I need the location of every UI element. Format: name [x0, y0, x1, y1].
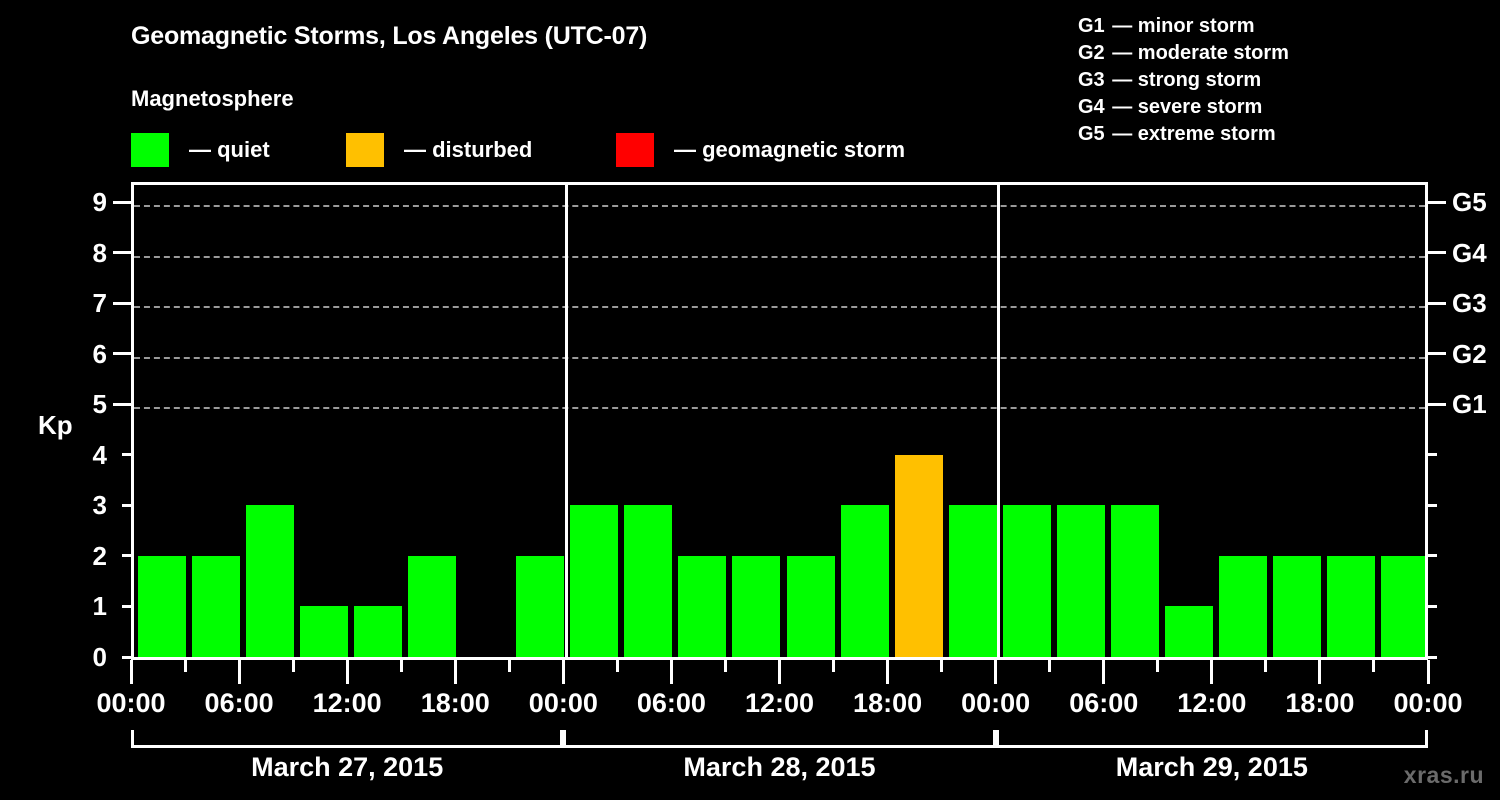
kp-bar — [1327, 556, 1375, 657]
y-tick-label-5: 5 — [67, 391, 107, 417]
x-tick-12 — [778, 660, 781, 684]
x-tick-9 — [616, 660, 619, 672]
day-label-1: March 27, 2015 — [131, 752, 563, 783]
g-legend-row-g1: G1 — minor storm — [1078, 13, 1289, 40]
y-tick-right-2 — [1428, 554, 1437, 557]
kp-bar — [246, 505, 294, 657]
g-legend-text-g3: — strong storm — [1107, 69, 1261, 91]
x-tick-19 — [1156, 660, 1159, 672]
x-tick-14 — [886, 660, 889, 684]
legend-entry-quiet: — quiet — [131, 132, 270, 168]
kp-bar — [300, 606, 348, 657]
y-tick-3 — [122, 504, 131, 507]
g-legend-text-g5: — extreme storm — [1107, 123, 1276, 145]
y-tick-6 — [113, 352, 131, 355]
y-tick-9 — [113, 201, 131, 204]
y-tick-label-4: 4 — [67, 442, 107, 468]
g-axis-label-g3: G3 — [1452, 290, 1487, 316]
g-legend-row-g5: G5 — extreme storm — [1078, 121, 1289, 148]
kp-bar — [1003, 505, 1051, 657]
kp-bar — [1219, 556, 1267, 657]
x-tick-21 — [1264, 660, 1267, 672]
kp-bar — [1057, 505, 1105, 657]
x-tick-2 — [238, 660, 241, 684]
kp-bar — [354, 606, 402, 657]
kp-bar — [1165, 606, 1213, 657]
day-label-3: March 29, 2015 — [996, 752, 1428, 783]
x-tick-20 — [1210, 660, 1213, 684]
gridline-kp-8 — [134, 256, 1425, 258]
y-tick-right-3 — [1428, 504, 1437, 507]
day-bracket-3 — [996, 730, 1428, 748]
y-tick-right-7 — [1428, 302, 1446, 305]
g-legend-code-g5: G5 — [1078, 123, 1105, 145]
x-tick-13 — [832, 660, 835, 672]
kp-bar — [732, 556, 780, 657]
gridline-kp-5 — [134, 407, 1425, 409]
y-tick-right-4 — [1428, 453, 1437, 456]
y-tick-right-0 — [1428, 656, 1437, 659]
x-tick-17 — [1048, 660, 1051, 672]
x-tick-18 — [1102, 660, 1105, 684]
y-tick-right-5 — [1428, 403, 1446, 406]
magnetosphere-section-label: Magnetosphere — [131, 86, 294, 112]
y-tick-right-9 — [1428, 201, 1446, 204]
g-legend-text-g1: — minor storm — [1107, 15, 1255, 37]
kp-bar — [624, 505, 672, 657]
x-tick-8 — [562, 660, 565, 684]
x-tick-6 — [454, 660, 457, 684]
kp-bar — [841, 505, 889, 657]
x-tick-22 — [1318, 660, 1321, 684]
y-tick-1 — [122, 605, 131, 608]
y-tick-label-9: 9 — [67, 189, 107, 215]
y-tick-5 — [113, 403, 131, 406]
kp-bar — [1111, 505, 1159, 657]
y-tick-right-1 — [1428, 605, 1437, 608]
day-separator-2 — [997, 185, 1000, 660]
plot-inner — [134, 185, 1425, 660]
g-legend-code-g2: G2 — [1078, 42, 1105, 64]
g-legend-code-g4: G4 — [1078, 96, 1105, 118]
x-tick-11 — [724, 660, 727, 672]
kp-bar — [678, 556, 726, 657]
gridline-kp-7 — [134, 306, 1425, 308]
kp-bar — [1273, 556, 1321, 657]
x-tick-5 — [400, 660, 403, 672]
y-tick-label-0: 0 — [67, 644, 107, 670]
y-tick-label-7: 7 — [67, 290, 107, 316]
x-tick-1 — [184, 660, 187, 672]
gridline-kp-6 — [134, 357, 1425, 359]
x-tick-23 — [1372, 660, 1375, 672]
gridline-kp-9 — [134, 205, 1425, 207]
x-tick-24 — [1427, 660, 1430, 684]
y-tick-right-8 — [1428, 251, 1446, 254]
kp-bar — [570, 505, 618, 657]
legend-entry-geomagnetic-storm: — geomagnetic storm — [616, 132, 905, 168]
g-legend-code-g3: G3 — [1078, 69, 1105, 91]
day-label-2: March 28, 2015 — [563, 752, 995, 783]
kp-bar — [787, 556, 835, 657]
g-scale-legend: G1 — minor stormG2 — moderate stormG3 — … — [1078, 13, 1289, 148]
kp-bar — [192, 556, 240, 657]
y-tick-label-3: 3 — [67, 492, 107, 518]
kp-bar — [408, 556, 456, 657]
kp-bar — [138, 556, 186, 657]
x-tick-4 — [346, 660, 349, 684]
kp-bar — [1381, 556, 1425, 657]
legend-label-disturbed: — disturbed — [404, 139, 532, 161]
g-legend-text-g2: — moderate storm — [1107, 42, 1289, 64]
y-tick-right-6 — [1428, 352, 1446, 355]
g-legend-code-g1: G1 — [1078, 15, 1105, 37]
legend-label-quiet: — quiet — [189, 139, 270, 161]
x-tick-16 — [994, 660, 997, 684]
watermark: xras.ru — [1404, 762, 1484, 789]
kp-bar — [949, 505, 997, 657]
g-axis-label-g2: G2 — [1452, 341, 1487, 367]
y-tick-label-1: 1 — [67, 593, 107, 619]
legend-swatch-disturbed — [346, 133, 384, 167]
x-tick-3 — [292, 660, 295, 672]
kp-bar — [516, 556, 564, 657]
y-tick-7 — [113, 302, 131, 305]
x-tick-15 — [940, 660, 943, 672]
g-legend-row-g3: G3 — strong storm — [1078, 67, 1289, 94]
y-tick-label-8: 8 — [67, 240, 107, 266]
y-tick-2 — [122, 554, 131, 557]
x-tick-10 — [670, 660, 673, 684]
g-axis-label-g5: G5 — [1452, 189, 1487, 215]
g-legend-text-g4: — severe storm — [1107, 96, 1263, 118]
y-tick-label-6: 6 — [67, 341, 107, 367]
y-tick-8 — [113, 251, 131, 254]
legend-swatch-geomagnetic-storm — [616, 133, 654, 167]
kp-bar — [895, 455, 943, 657]
g-axis-label-g4: G4 — [1452, 240, 1487, 266]
y-tick-0 — [122, 656, 131, 659]
legend-entry-disturbed: — disturbed — [346, 132, 532, 168]
legend-swatch-quiet — [131, 133, 169, 167]
x-tick-7 — [508, 660, 511, 672]
g-axis-label-g1: G1 — [1452, 391, 1487, 417]
g-legend-row-g4: G4 — severe storm — [1078, 94, 1289, 121]
x-tick-label-12: 00:00 — [1358, 688, 1498, 719]
day-separator-1 — [565, 185, 568, 660]
x-tick-0 — [130, 660, 133, 684]
day-bracket-1 — [131, 730, 563, 748]
day-bracket-2 — [563, 730, 995, 748]
y-tick-label-2: 2 — [67, 543, 107, 569]
plot-area — [131, 182, 1428, 660]
g-legend-row-g2: G2 — moderate storm — [1078, 40, 1289, 67]
legend-label-geomagnetic-storm: — geomagnetic storm — [674, 139, 905, 161]
page-title: Geomagnetic Storms, Los Angeles (UTC-07) — [131, 22, 647, 51]
y-tick-4 — [122, 453, 131, 456]
